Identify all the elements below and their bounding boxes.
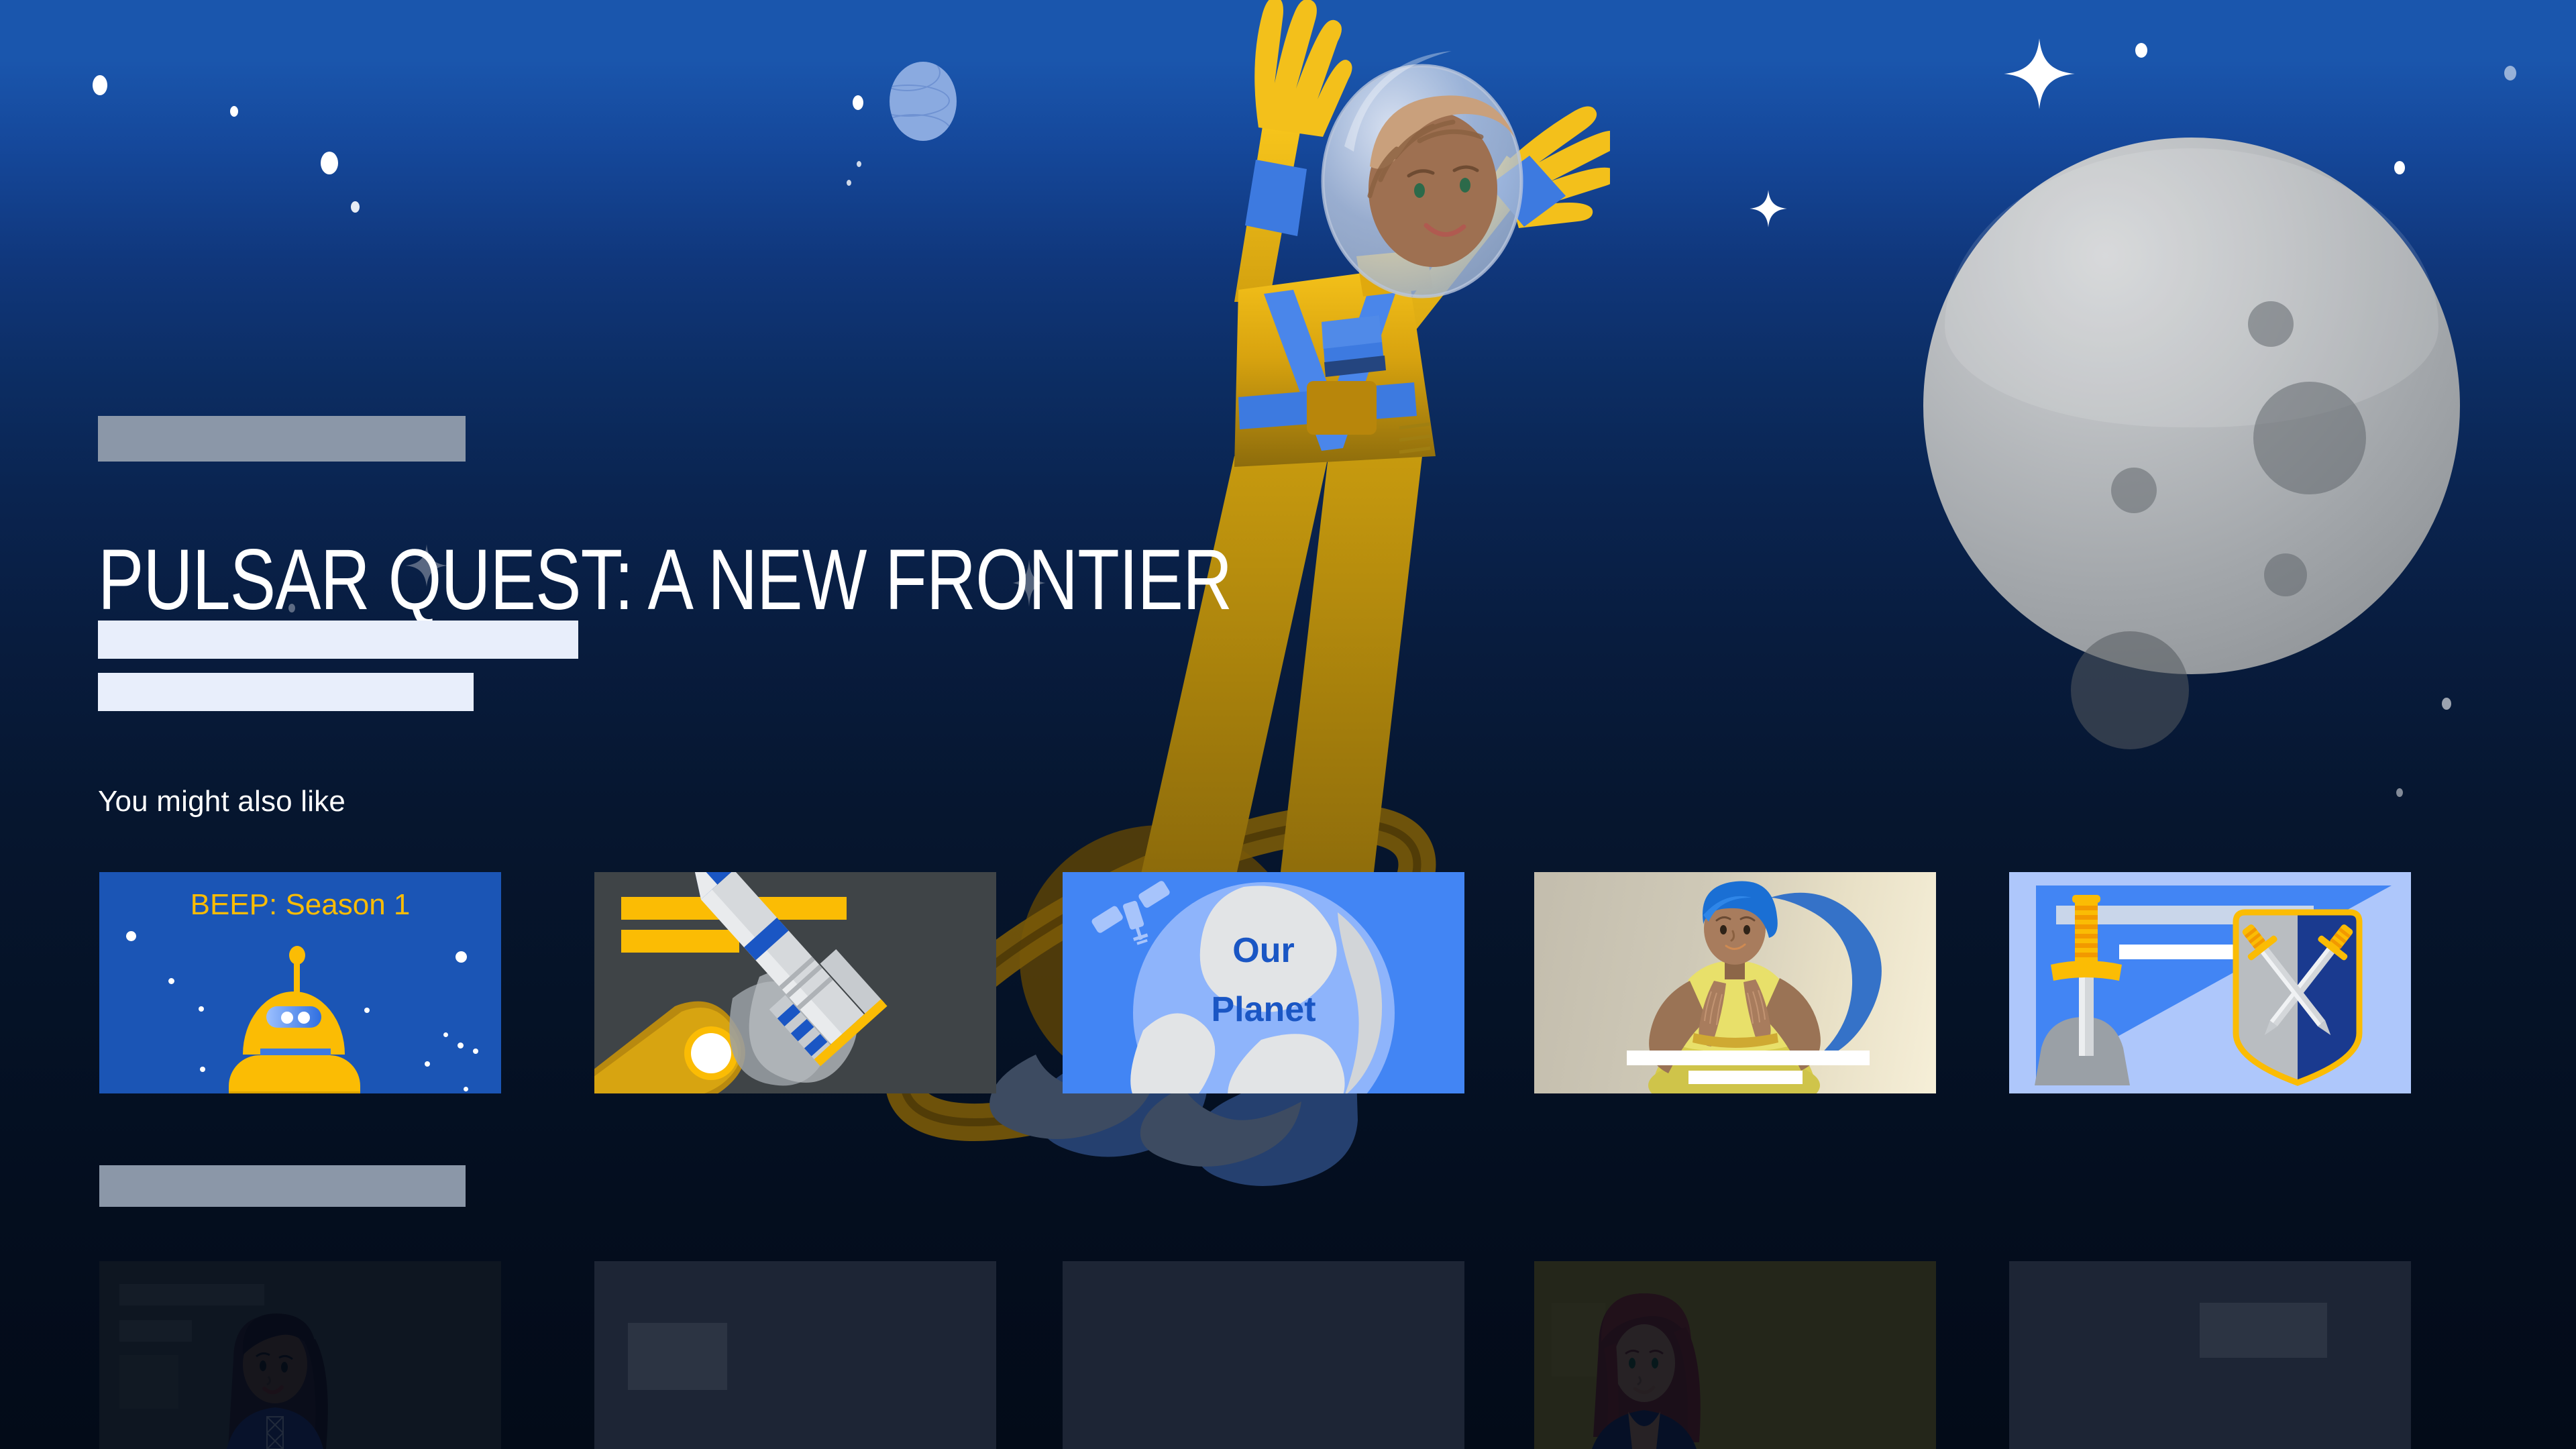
card-dim-overlay bbox=[99, 1261, 501, 1449]
row2-card-4[interactable] bbox=[1534, 1261, 1936, 1449]
robot-body bbox=[229, 1055, 360, 1093]
row2-heading-placeholder bbox=[99, 1165, 466, 1207]
card-rocket-launch[interactable] bbox=[594, 872, 996, 1093]
rocket-illustration bbox=[594, 872, 996, 1093]
row2-card-5[interactable] bbox=[2009, 1261, 2411, 1449]
earth-illustration bbox=[1063, 872, 1464, 1093]
hero-subtitle-placeholder-2 bbox=[98, 673, 474, 711]
hero-subtitle-placeholder-1 bbox=[98, 621, 578, 659]
card-sword-and-shield[interactable] bbox=[2009, 872, 2411, 1093]
card-text-placeholder-2 bbox=[1688, 1071, 1803, 1084]
sword-shield-illustration bbox=[2009, 872, 2411, 1093]
row2-card-2[interactable] bbox=[594, 1261, 996, 1449]
row2-card-1[interactable] bbox=[99, 1261, 501, 1449]
card-placeholder-block bbox=[2200, 1303, 2327, 1358]
page-content: PULSAR QUEST: A NEW FRONTIER You might a… bbox=[0, 0, 2576, 1449]
card-our-planet[interactable]: Our Planet bbox=[1063, 872, 1464, 1093]
card-dim-overlay bbox=[1534, 1261, 1936, 1449]
hero-eyebrow-placeholder bbox=[98, 416, 466, 462]
space-streaming-hero-page: PULSAR QUEST: A NEW FRONTIER You might a… bbox=[0, 0, 2576, 1449]
row2-card-3[interactable] bbox=[1063, 1261, 1464, 1449]
card-meditation[interactable] bbox=[1534, 872, 1936, 1093]
robot-visor bbox=[266, 1006, 321, 1028]
section-heading-you-might-also-like: You might also like bbox=[98, 785, 345, 818]
page-title: PULSAR QUEST: A NEW FRONTIER bbox=[98, 537, 1232, 623]
card-placeholder-block bbox=[628, 1323, 727, 1390]
card-text-placeholder-1 bbox=[1627, 1051, 1870, 1065]
card-title-line-2: Planet bbox=[1063, 990, 1464, 1029]
card-title-line-1: Our bbox=[1063, 931, 1464, 970]
card-title: BEEP: Season 1 bbox=[99, 888, 501, 922]
card-beep-season-1[interactable]: BEEP: Season 1 bbox=[99, 872, 501, 1093]
